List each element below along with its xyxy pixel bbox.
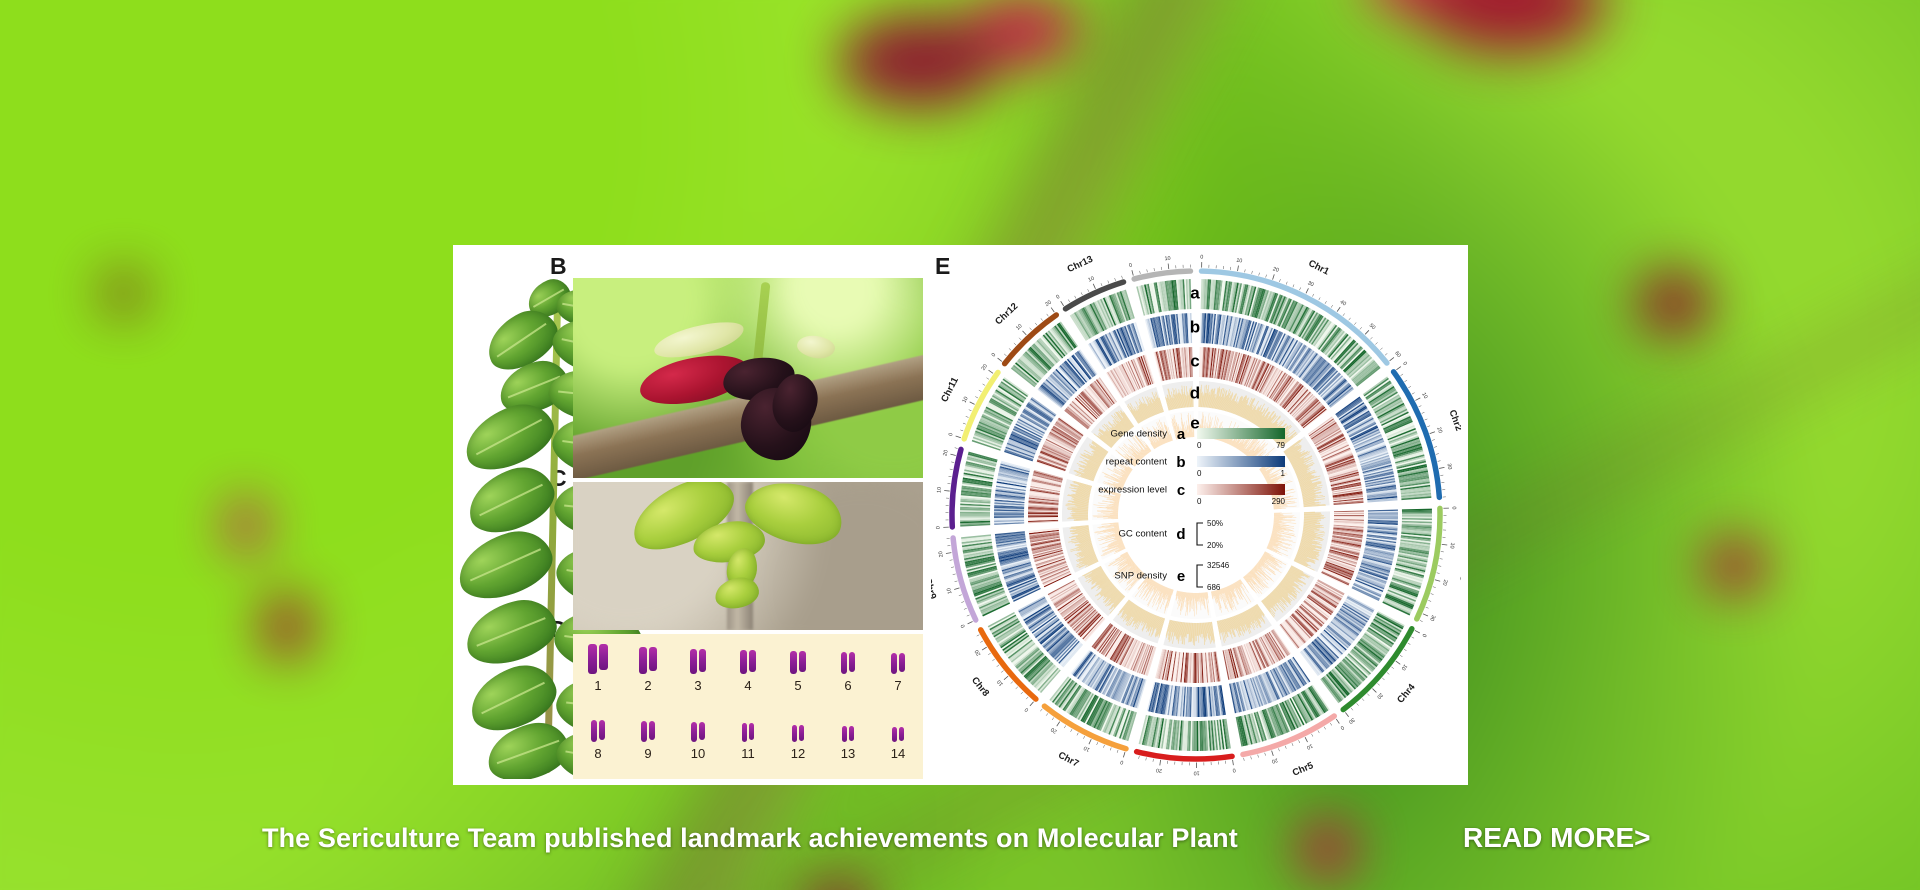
svg-text:d: d bbox=[1176, 526, 1185, 543]
svg-text:c: c bbox=[1190, 351, 1199, 370]
svg-text:10: 10 bbox=[1400, 663, 1408, 671]
svg-text:20: 20 bbox=[1271, 756, 1279, 764]
svg-text:Gene density: Gene density bbox=[1110, 429, 1167, 440]
photo-column: B C D bbox=[453, 245, 923, 785]
svg-text:0: 0 bbox=[1197, 497, 1202, 506]
circos-genome-plot: 0102030405060Chr10102030Chr20102030Chr30… bbox=[931, 251, 1461, 779]
circos-svg: 0102030405060Chr10102030Chr20102030Chr30… bbox=[931, 251, 1461, 779]
svg-text:c: c bbox=[1177, 482, 1185, 499]
karyotype-number: 5 bbox=[778, 678, 818, 693]
svg-text:0: 0 bbox=[1200, 254, 1203, 260]
svg-text:0: 0 bbox=[1120, 758, 1125, 765]
svg-text:Chr13: Chr13 bbox=[1066, 254, 1095, 275]
svg-text:e: e bbox=[1177, 568, 1185, 585]
svg-text:0: 0 bbox=[1339, 724, 1345, 731]
karyotype-row-1 bbox=[573, 640, 923, 674]
svg-text:b: b bbox=[1190, 317, 1200, 336]
svg-text:Chr7: Chr7 bbox=[1056, 750, 1080, 770]
svg-text:0: 0 bbox=[1450, 506, 1456, 509]
svg-text:30: 30 bbox=[1347, 716, 1355, 724]
svg-text:50: 50 bbox=[1368, 323, 1376, 331]
karyotype-row-2 bbox=[573, 714, 923, 742]
svg-text:20: 20 bbox=[942, 449, 949, 456]
svg-text:30: 30 bbox=[1428, 614, 1436, 622]
svg-text:10: 10 bbox=[1194, 770, 1200, 776]
svg-text:0: 0 bbox=[1401, 361, 1408, 367]
karyotype-numbers-row-1: 1 2 3 4 5 6 7 bbox=[573, 678, 923, 693]
karyotype-number: 12 bbox=[778, 746, 818, 761]
young-shoot-photo bbox=[573, 482, 923, 630]
caption-bar: The Sericulture Team published landmark … bbox=[0, 785, 1920, 890]
karyotype-numbers-row-2: 8 9 10 11 12 13 14 bbox=[573, 746, 923, 761]
svg-text:SNP density: SNP density bbox=[1114, 571, 1167, 582]
svg-text:0: 0 bbox=[1197, 441, 1202, 450]
svg-text:a: a bbox=[1190, 283, 1200, 302]
karyotype-number: 1 bbox=[578, 678, 618, 693]
svg-text:20: 20 bbox=[1050, 726, 1058, 734]
hero-banner: B C D bbox=[0, 0, 1920, 890]
svg-text:290: 290 bbox=[1272, 497, 1286, 506]
svg-text:50%: 50% bbox=[1207, 519, 1223, 528]
karyotype-number: 2 bbox=[628, 678, 668, 693]
svg-text:Chr12: Chr12 bbox=[993, 301, 1020, 327]
svg-text:d: d bbox=[1190, 383, 1200, 402]
svg-text:10: 10 bbox=[1087, 276, 1095, 284]
svg-text:10: 10 bbox=[1236, 258, 1243, 265]
svg-text:Chr5: Chr5 bbox=[1291, 760, 1316, 779]
svg-text:0: 0 bbox=[1055, 294, 1061, 301]
karyotype-number: 6 bbox=[828, 678, 868, 693]
svg-text:0: 0 bbox=[1420, 632, 1427, 637]
svg-text:0: 0 bbox=[1024, 706, 1030, 712]
karyotype-number: 7 bbox=[878, 678, 918, 693]
svg-text:686: 686 bbox=[1207, 583, 1221, 592]
karyotype-number: 14 bbox=[878, 746, 918, 761]
svg-text:0: 0 bbox=[1129, 263, 1133, 270]
svg-text:10: 10 bbox=[1448, 542, 1455, 549]
svg-text:10: 10 bbox=[1420, 392, 1428, 400]
svg-text:Chr4: Chr4 bbox=[1395, 681, 1418, 705]
svg-text:10: 10 bbox=[962, 396, 970, 404]
svg-text:0: 0 bbox=[960, 623, 967, 628]
svg-text:60: 60 bbox=[1393, 350, 1401, 358]
svg-text:b: b bbox=[1176, 454, 1185, 471]
svg-text:a: a bbox=[1177, 426, 1186, 443]
karyotype-number: 3 bbox=[678, 678, 718, 693]
svg-text:20: 20 bbox=[1044, 300, 1052, 308]
svg-text:20: 20 bbox=[1435, 426, 1443, 434]
svg-text:20: 20 bbox=[1156, 767, 1163, 774]
svg-text:20: 20 bbox=[938, 551, 945, 558]
svg-text:10: 10 bbox=[1306, 742, 1314, 750]
svg-text:0: 0 bbox=[1232, 767, 1236, 773]
svg-text:30: 30 bbox=[1445, 463, 1452, 470]
svg-text:GC content: GC content bbox=[1118, 529, 1167, 540]
read-more-link[interactable]: READ MORE> bbox=[1463, 822, 1650, 854]
svg-text:20: 20 bbox=[1272, 266, 1280, 274]
svg-text:40: 40 bbox=[1339, 299, 1347, 307]
svg-text:0: 0 bbox=[936, 526, 942, 529]
svg-text:20: 20 bbox=[1441, 579, 1448, 586]
karyotype-number: 11 bbox=[728, 746, 768, 761]
svg-text:20: 20 bbox=[974, 648, 982, 656]
svg-text:0: 0 bbox=[1197, 469, 1202, 478]
svg-text:10: 10 bbox=[1164, 256, 1171, 263]
circos-column: E 0102030405060Chr10102030Chr20102030Chr… bbox=[923, 245, 1468, 785]
svg-text:Chr1: Chr1 bbox=[1307, 258, 1332, 278]
svg-text:10: 10 bbox=[1083, 744, 1091, 752]
svg-text:10: 10 bbox=[936, 487, 943, 494]
svg-text:20: 20 bbox=[981, 363, 989, 371]
karyotype-number: 10 bbox=[678, 746, 718, 761]
svg-text:Chr11: Chr11 bbox=[939, 375, 961, 404]
svg-text:Chr2: Chr2 bbox=[1446, 408, 1461, 432]
svg-text:79: 79 bbox=[1276, 441, 1285, 450]
karyotype-number: 8 bbox=[578, 746, 618, 761]
svg-text:repeat content: repeat content bbox=[1106, 457, 1168, 468]
svg-text:Chr8: Chr8 bbox=[969, 675, 991, 699]
karyotype-number: 4 bbox=[728, 678, 768, 693]
svg-text:20: 20 bbox=[1375, 691, 1383, 699]
svg-text:0: 0 bbox=[991, 352, 998, 358]
mulberry-fruits-photo bbox=[573, 278, 923, 478]
svg-text:0: 0 bbox=[948, 432, 955, 437]
svg-text:Chr3: Chr3 bbox=[1459, 560, 1461, 583]
figure-panel: B C D bbox=[453, 245, 1468, 785]
svg-text:10: 10 bbox=[1015, 323, 1023, 331]
karyotype-number: 13 bbox=[828, 746, 868, 761]
svg-text:expression level: expression level bbox=[1098, 485, 1167, 496]
svg-text:1: 1 bbox=[1281, 469, 1286, 478]
svg-text:Chr9: Chr9 bbox=[931, 577, 938, 601]
karyotype-number: 9 bbox=[628, 746, 668, 761]
svg-text:32546: 32546 bbox=[1207, 561, 1230, 570]
svg-text:10: 10 bbox=[996, 678, 1004, 686]
svg-text:10: 10 bbox=[946, 587, 954, 595]
karyotype-photo: 1 2 3 4 5 6 7 8 bbox=[573, 634, 923, 779]
banner-caption: The Sericulture Team published landmark … bbox=[262, 823, 1238, 854]
svg-text:30: 30 bbox=[1306, 280, 1314, 288]
svg-text:20%: 20% bbox=[1207, 541, 1223, 550]
